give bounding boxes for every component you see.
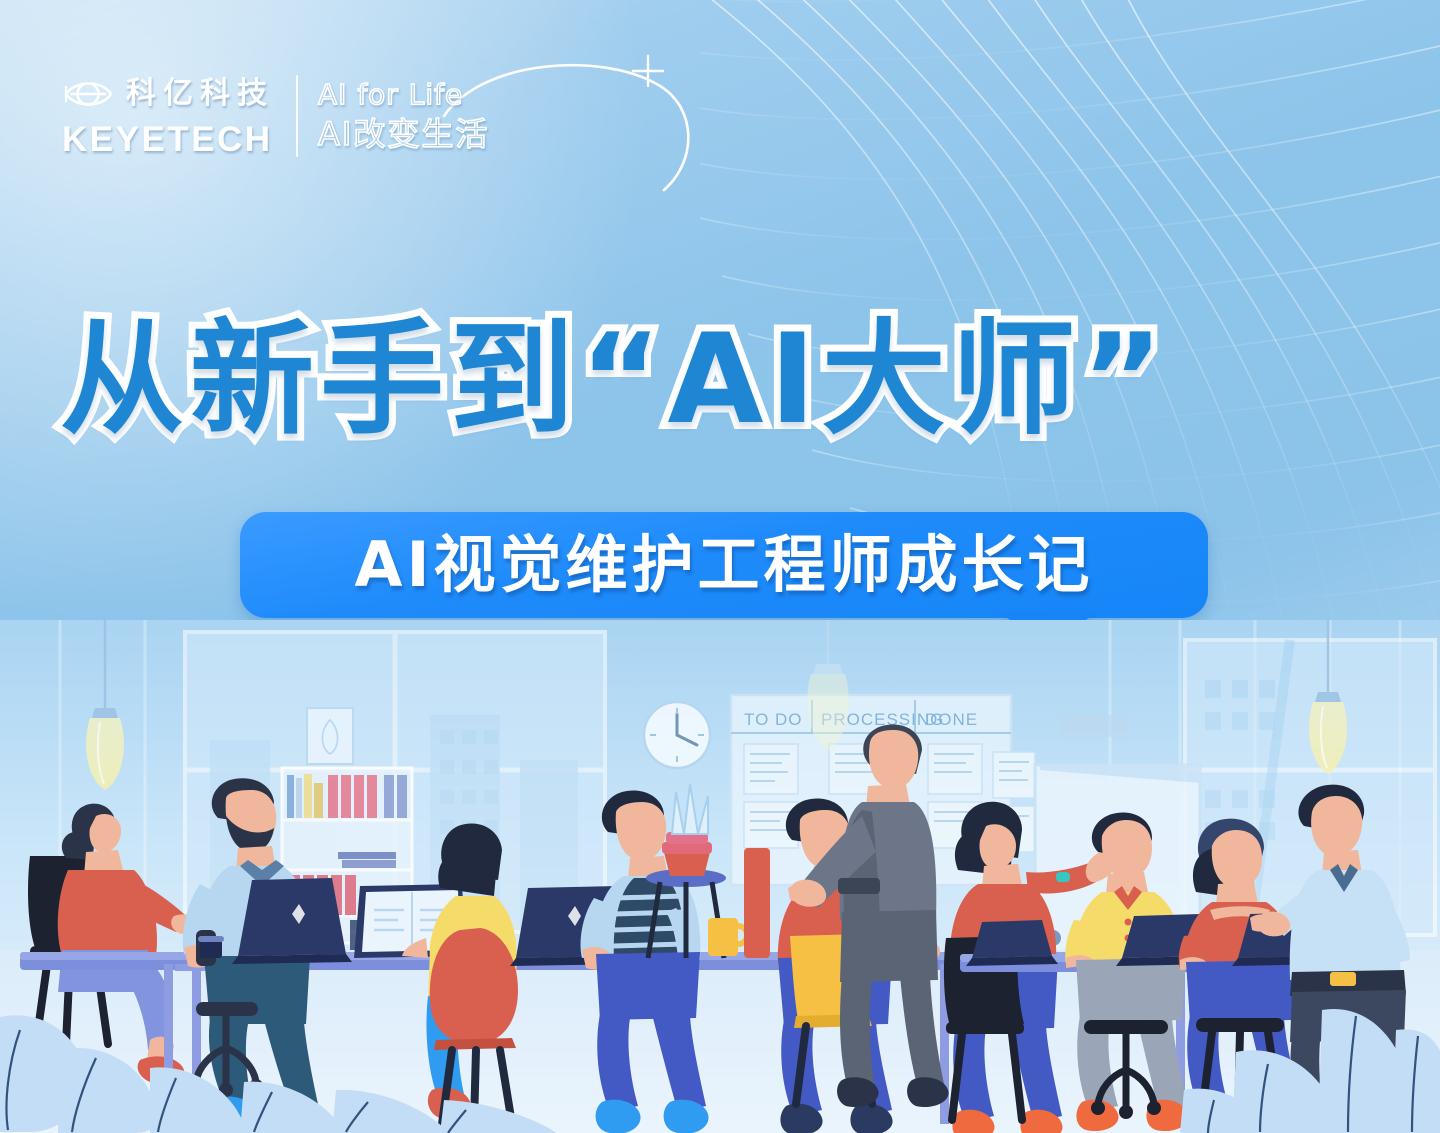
- logo-divider: [296, 75, 298, 157]
- office-chair-red: [430, 928, 518, 1124]
- subtitle-text: AI视觉维护工程师成长记: [354, 534, 1093, 596]
- brand-logo[interactable]: 科亿科技 KEYETECH AI for Life AI改变生活: [62, 74, 489, 157]
- brand-logo-top-row: 科亿科技: [62, 74, 274, 114]
- tagline-cn: AI改变生活: [318, 117, 489, 153]
- coffee-cup: [198, 936, 224, 958]
- main-title: 从新手到“AI大师”: [60, 318, 1390, 442]
- office-team-meeting-illustration: TO DO PROCESSING DONE: [0, 620, 1440, 1133]
- brand-logo-left: 科亿科技 KEYETECH: [62, 74, 274, 157]
- laptop: [232, 878, 352, 964]
- tagline-en: AI for Life: [318, 78, 489, 111]
- drink-can: [744, 848, 770, 958]
- poster-canvas: 科亿科技 KEYETECH AI for Life AI改变生活 从新手到“AI…: [0, 0, 1440, 1133]
- sparkle-icon: [633, 56, 663, 86]
- subtitle-banner: AI视觉维护工程师成长记: [240, 512, 1208, 618]
- svg-text:TO DO: TO DO: [744, 710, 803, 729]
- eye-logo-icon: [62, 74, 114, 114]
- svg-text:DONE: DONE: [925, 710, 978, 729]
- brand-name-cn: 科亿科技: [126, 79, 274, 109]
- brand-name-en: KEYETECH: [62, 122, 274, 157]
- brand-tagline: AI for Life AI改变生活: [318, 78, 489, 153]
- wall-clock: [644, 702, 710, 768]
